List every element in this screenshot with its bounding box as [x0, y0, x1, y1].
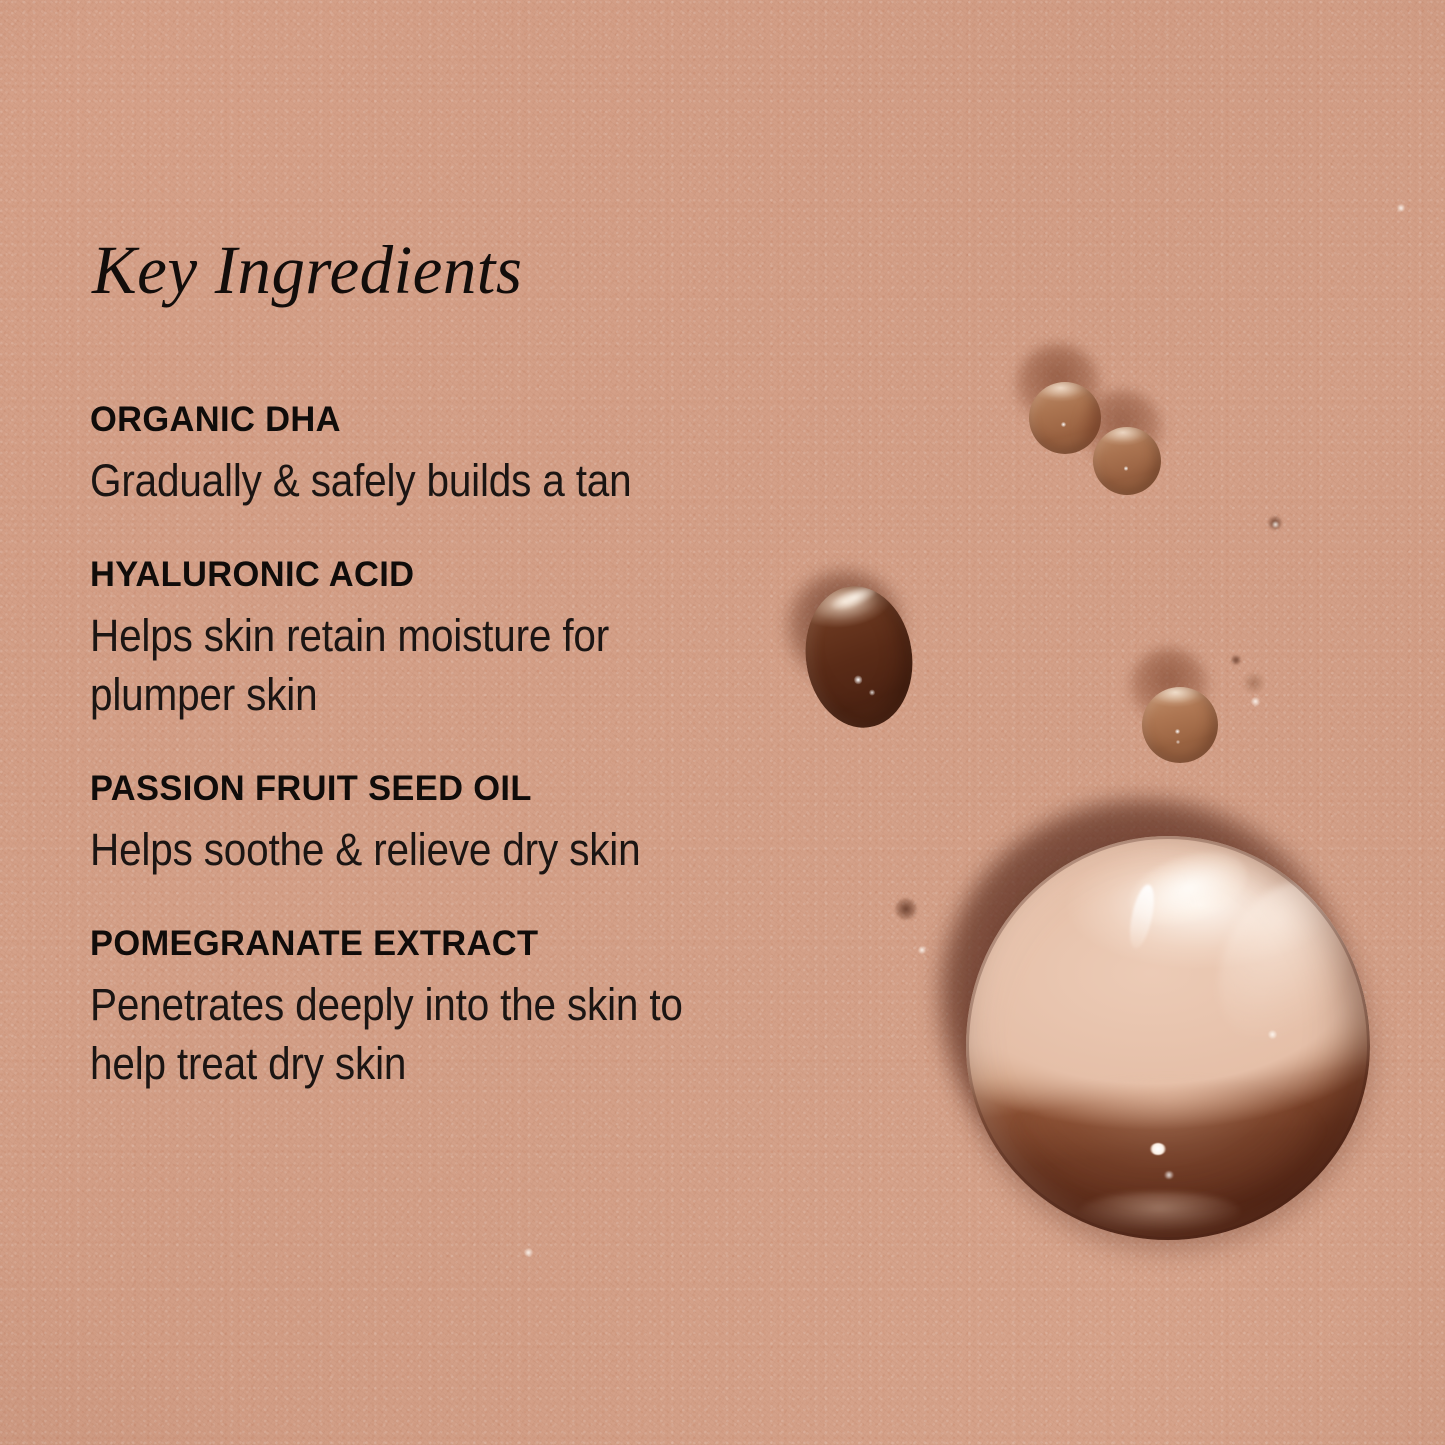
- paper-speck: [918, 946, 926, 954]
- paper-speck: [1272, 521, 1279, 528]
- ingredients-text-column: Key Ingredients ORGANIC DHA Gradually & …: [90, 236, 880, 1093]
- paper-speck: [1231, 655, 1241, 665]
- droplet-highlight-dot: [1124, 466, 1129, 471]
- ingredient-description: Helps skin retain moisture for plumper s…: [90, 607, 801, 724]
- small-droplet-right: [1142, 687, 1218, 763]
- droplet-edge-rim: [966, 836, 1370, 1240]
- ingredient-description: Gradually & safely builds a tan: [90, 452, 801, 511]
- paper-speck: [524, 1248, 533, 1257]
- ingredient-item-pomegranate-extract: POMEGRANATE EXTRACT Penetrates deeply in…: [90, 925, 880, 1093]
- small-droplet-upper-right: [1093, 427, 1161, 495]
- ingredient-item-organic-dha: ORGANIC DHA Gradually & safely builds a …: [90, 401, 880, 510]
- paper-speck: [1268, 1030, 1277, 1039]
- paper-speck: [1251, 697, 1260, 706]
- ingredient-name: HYALURONIC ACID: [90, 556, 868, 594]
- large-droplet: [966, 836, 1370, 1240]
- droplet-highlight-dot: [1175, 729, 1180, 734]
- ingredient-name: PASSION FRUIT SEED OIL: [90, 770, 868, 808]
- ingredient-name: ORGANIC DHA: [90, 401, 868, 439]
- page-title: Key Ingredients: [92, 236, 856, 305]
- ingredient-item-hyaluronic-acid: HYALURONIC ACID Helps skin retain moistu…: [90, 556, 880, 724]
- paper-speck: [895, 898, 917, 920]
- key-ingredients-graphic: Key Ingredients ORGANIC DHA Gradually & …: [0, 0, 1445, 1445]
- paper-speck: [1397, 204, 1405, 212]
- ingredient-name: POMEGRANATE EXTRACT: [90, 925, 868, 963]
- droplet-highlight-dot-secondary: [1176, 740, 1180, 744]
- ingredient-item-passion-fruit-seed-oil: PASSION FRUIT SEED OIL Helps soothe & re…: [90, 770, 880, 879]
- ingredient-description: Helps soothe & relieve dry skin: [90, 821, 801, 880]
- ingredient-description: Penetrates deeply into the skin to help …: [90, 976, 801, 1093]
- droplet-highlight-dot: [1061, 422, 1066, 427]
- paper-speck: [1243, 672, 1265, 694]
